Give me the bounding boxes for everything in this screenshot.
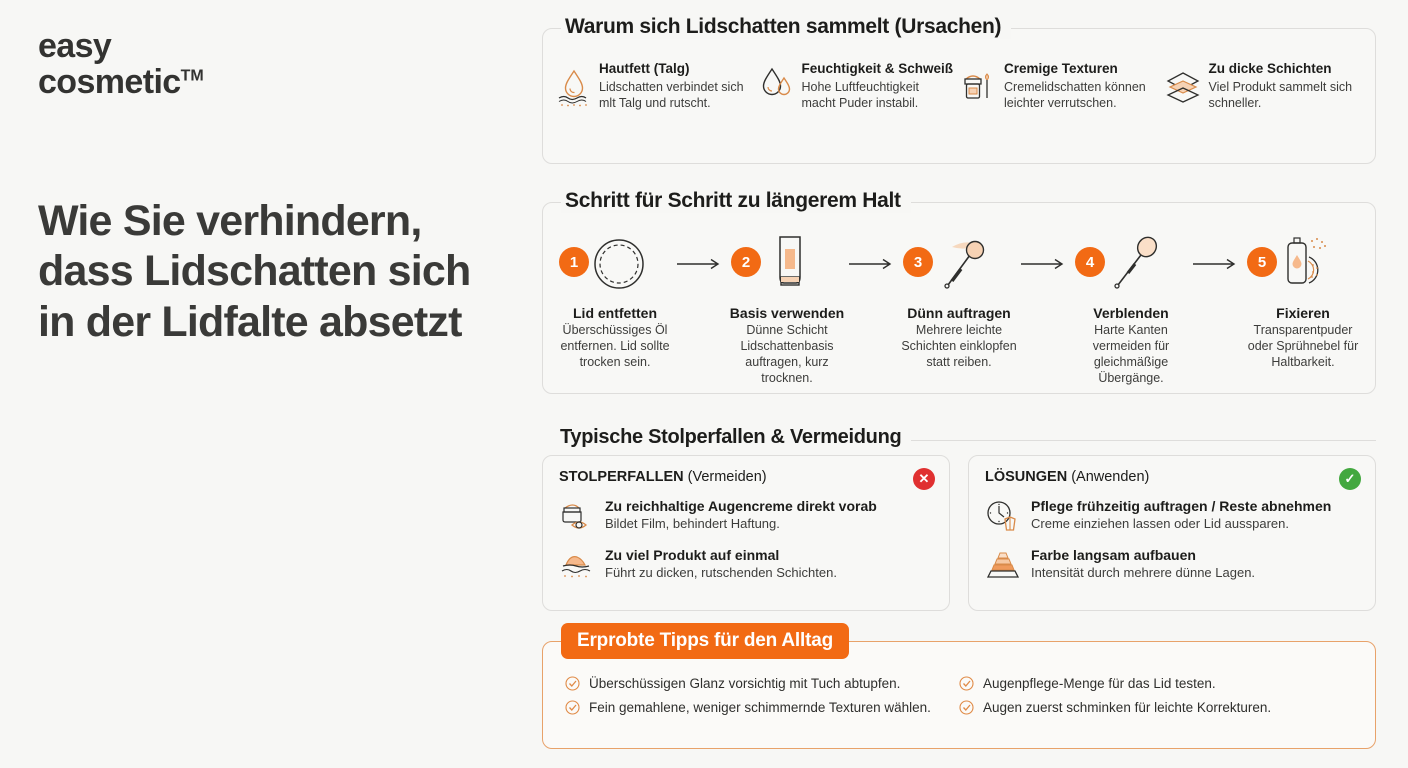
cause-text: Hautfett (Talg) Lidschatten verbindet si… bbox=[599, 61, 754, 111]
pitfalls-section-title: Typische Stolperfallen & Vermeidung bbox=[556, 426, 911, 449]
steps-title: Schritt für Schritt zu längerem Halt bbox=[561, 189, 911, 213]
step-title: Verblenden bbox=[1069, 305, 1193, 321]
step-item: 1 Lid entfetten Überschüssiges Öl entfer… bbox=[553, 229, 677, 371]
pitfall-title: Zu reichhaltige Augencreme direkt vorab bbox=[605, 498, 877, 515]
cause-title: Cremige Texturen bbox=[1004, 61, 1159, 78]
right-column: Warum sich Lidschatten sammelt (Ursachen… bbox=[542, 28, 1376, 749]
solutions-card: LÖSUNGEN (Anwenden) ✓ bbox=[968, 455, 1376, 611]
step-number-badge: 2 bbox=[731, 247, 761, 277]
arrow-icon bbox=[1193, 229, 1241, 299]
step-number-badge: 4 bbox=[1075, 247, 1105, 277]
step-item: 3 Dünn auftragen Mehrere leichte Schicht… bbox=[897, 229, 1021, 371]
pitfalls-section: Typische Stolperfallen & Vermeidung STOL… bbox=[542, 428, 1376, 611]
cause-desc: Cremelidschatten können leichter verruts… bbox=[1004, 79, 1159, 112]
primer-tube-icon bbox=[758, 231, 816, 297]
cause-text: Cremige Texturen Cremelidschatten können… bbox=[1004, 61, 1159, 111]
step-title: Fixieren bbox=[1241, 305, 1365, 321]
pitfall-desc: Führt zu dicken, rutschenden Schichten. bbox=[605, 565, 837, 581]
pitfalls-heading-rest: (Vermeiden) bbox=[684, 469, 767, 485]
solution-desc: Creme einziehen lassen oder Lid ausspare… bbox=[1031, 516, 1331, 532]
tips-badge: Erprobte Tipps für den Alltag bbox=[561, 623, 849, 659]
pitfall-desc: Bildet Film, behindert Haftung. bbox=[605, 516, 877, 532]
tips-column-left: Überschüssigen Glanz vorsichtig mit Tuch… bbox=[565, 676, 959, 724]
step-desc: Dünne Schicht Lidschattenbasis auftragen… bbox=[725, 323, 849, 387]
cause-desc: Hohe Luftfeuchtigkeit macht Puder instab… bbox=[802, 79, 957, 112]
cause-item: Zu dicke Schichten Viel Produkt sammelt … bbox=[1165, 61, 1362, 111]
check-circle-icon bbox=[565, 676, 580, 691]
product-dollop-icon bbox=[559, 547, 595, 583]
solutions-heading-rest: (Anwenden) bbox=[1067, 469, 1149, 485]
causes-title: Warum sich Lidschatten sammelt (Ursachen… bbox=[561, 15, 1011, 39]
check-circle-icon bbox=[959, 676, 974, 691]
tip-item: Überschüssigen Glanz vorsichtig mit Tuch… bbox=[565, 676, 959, 691]
step-item: 2 Basis verwenden Dünne Schicht Lidschat… bbox=[725, 229, 849, 387]
causes-list: Hautfett (Talg) Lidschatten verbindet si… bbox=[557, 61, 1361, 111]
oil-drop-skin-icon bbox=[557, 61, 591, 111]
step-visual: 5 bbox=[1241, 229, 1365, 299]
causes-panel: Warum sich Lidschatten sammelt (Ursachen… bbox=[542, 28, 1376, 164]
trademark-symbol: TM bbox=[181, 68, 204, 85]
step-desc: Überschüssiges Öl entfernen. Lid sollte … bbox=[553, 323, 677, 371]
step-desc: Transparentpuder oder Sprühnebel für Hal… bbox=[1241, 323, 1365, 371]
tips-grid: Überschüssigen Glanz vorsichtig mit Tuch… bbox=[565, 676, 1353, 724]
eye-cream-jar-icon bbox=[559, 498, 595, 534]
step-item: 5 Fixieren Transparentpuder oder Sprüh bbox=[1241, 229, 1365, 371]
humidity-drops-icon bbox=[760, 61, 794, 111]
step-title: Basis verwenden bbox=[725, 305, 849, 321]
solution-title: Farbe langsam aufbauen bbox=[1031, 547, 1255, 564]
step-title: Lid entfetten bbox=[553, 305, 677, 321]
solutions-heading: LÖSUNGEN (Anwenden) bbox=[985, 469, 1359, 485]
cotton-pad-icon bbox=[586, 235, 644, 293]
steps-panel: Schritt für Schritt zu längerem Halt 1 L… bbox=[542, 202, 1376, 394]
brand-line-2: cosmetic bbox=[38, 63, 181, 101]
step-number-badge: 5 bbox=[1247, 247, 1277, 277]
pitfalls-card: STOLPERFALLEN (Vermeiden) ✕ bbox=[542, 455, 950, 611]
left-column: easy cosmeticTM Wie Sie verhindern, dass… bbox=[38, 28, 518, 347]
solution-text: Pflege frühzeitig auftragen / Reste abne… bbox=[1031, 498, 1331, 534]
clock-tissue-icon bbox=[985, 498, 1021, 534]
solution-title: Pflege frühzeitig auftragen / Reste abne… bbox=[1031, 498, 1331, 515]
pitfalls-heading: STOLPERFALLEN (Vermeiden) bbox=[559, 469, 933, 485]
step-number-badge: 1 bbox=[559, 247, 589, 277]
page-title: Wie Sie verhindern, dass Lidschatten sic… bbox=[38, 196, 518, 347]
check-circle-icon bbox=[959, 700, 974, 715]
setting-spray-powder-icon bbox=[1271, 233, 1335, 295]
step-visual: 1 bbox=[553, 229, 677, 299]
check-icon: ✓ bbox=[1339, 468, 1361, 490]
cause-title: Zu dicke Schichten bbox=[1209, 61, 1362, 78]
solution-item: Pflege frühzeitig auftragen / Reste abne… bbox=[985, 498, 1359, 534]
cause-desc: Viel Produkt sammelt sich schneller. bbox=[1209, 79, 1362, 112]
cross-icon: ✕ bbox=[913, 468, 935, 490]
pitfall-item: Zu viel Produkt auf einmal Führt zu dick… bbox=[559, 547, 933, 583]
pitfall-title: Zu viel Produkt auf einmal bbox=[605, 547, 837, 564]
cause-text: Zu dicke Schichten Viel Produkt sammelt … bbox=[1209, 61, 1362, 111]
check-circle-icon bbox=[565, 700, 580, 715]
arrow-icon bbox=[1021, 229, 1069, 299]
solution-item: Farbe langsam aufbauen Intensität durch … bbox=[985, 547, 1359, 583]
cause-item: Cremige Texturen Cremelidschatten können… bbox=[962, 61, 1159, 111]
step-desc: Harte Kanten vermeiden für gleichmäßige … bbox=[1069, 323, 1193, 387]
cause-item: Feuchtigkeit & Schweiß Hohe Luftfeuchtig… bbox=[760, 61, 957, 111]
step-number-badge: 3 bbox=[903, 247, 933, 277]
stacked-layers-icon bbox=[1165, 61, 1201, 111]
brand-line-1: easy bbox=[38, 27, 111, 65]
tips-column-right: Augenpflege-Menge für das Lid testen. Au… bbox=[959, 676, 1353, 724]
tip-item: Fein gemahlene, weniger schimmernde Text… bbox=[565, 700, 959, 715]
cream-jar-brush-icon bbox=[962, 61, 996, 111]
cause-item: Hautfett (Talg) Lidschatten verbindet si… bbox=[557, 61, 754, 111]
step-visual: 2 bbox=[725, 229, 849, 299]
solution-desc: Intensität durch mehrere dünne Lagen. bbox=[1031, 565, 1255, 581]
steps-list: 1 Lid entfetten Überschüssiges Öl entfer… bbox=[553, 229, 1365, 387]
step-desc: Mehrere leichte Schichten einklopfen sta… bbox=[897, 323, 1021, 371]
tip-item: Augen zuerst schminken für leichte Korre… bbox=[959, 700, 1353, 715]
cause-desc: Lidschatten verbindet sich mlt Talg und … bbox=[599, 79, 754, 112]
pitfall-text: Zu viel Produkt auf einmal Führt zu dick… bbox=[605, 547, 837, 583]
step-visual: 4 bbox=[1069, 229, 1193, 299]
tip-text: Überschüssigen Glanz vorsichtig mit Tuch… bbox=[589, 676, 900, 691]
pitfall-text: Zu reichhaltige Augencreme direkt vorab … bbox=[605, 498, 877, 534]
cause-title: Hautfett (Talg) bbox=[599, 61, 754, 78]
brand-logo: easy cosmeticTM bbox=[38, 28, 518, 100]
step-title: Dünn auftragen bbox=[897, 305, 1021, 321]
tips-panel: Erprobte Tipps für den Alltag Überschüss… bbox=[542, 641, 1376, 749]
arrow-icon bbox=[677, 229, 725, 299]
angled-brush-swatch-icon bbox=[928, 233, 990, 295]
tip-item: Augenpflege-Menge für das Lid testen. bbox=[959, 676, 1353, 691]
tip-text: Augenpflege-Menge für das Lid testen. bbox=[983, 676, 1216, 691]
tip-text: Fein gemahlene, weniger schimmernde Text… bbox=[589, 700, 931, 715]
solutions-heading-bold: LÖSUNGEN bbox=[985, 469, 1067, 485]
tip-text: Augen zuerst schminken für leichte Korre… bbox=[983, 700, 1271, 715]
pitfall-item: Zu reichhaltige Augencreme direkt vorab … bbox=[559, 498, 933, 534]
pitfalls-columns: STOLPERFALLEN (Vermeiden) ✕ bbox=[542, 428, 1376, 611]
step-visual: 3 bbox=[897, 229, 1021, 299]
cause-title: Feuchtigkeit & Schweiß bbox=[802, 61, 957, 78]
solution-text: Farbe langsam aufbauen Intensität durch … bbox=[1031, 547, 1255, 583]
blending-brush-icon bbox=[1100, 233, 1162, 295]
arrow-icon bbox=[849, 229, 897, 299]
pitfalls-heading-bold: STOLPERFALLEN bbox=[559, 469, 684, 485]
step-item: 4 Verblenden Harte Kanten vermeiden für … bbox=[1069, 229, 1193, 387]
infographic-page: easy cosmeticTM Wie Sie verhindern, dass… bbox=[0, 0, 1408, 768]
layer-pyramid-icon bbox=[985, 547, 1021, 583]
cause-text: Feuchtigkeit & Schweiß Hohe Luftfeuchtig… bbox=[802, 61, 957, 111]
